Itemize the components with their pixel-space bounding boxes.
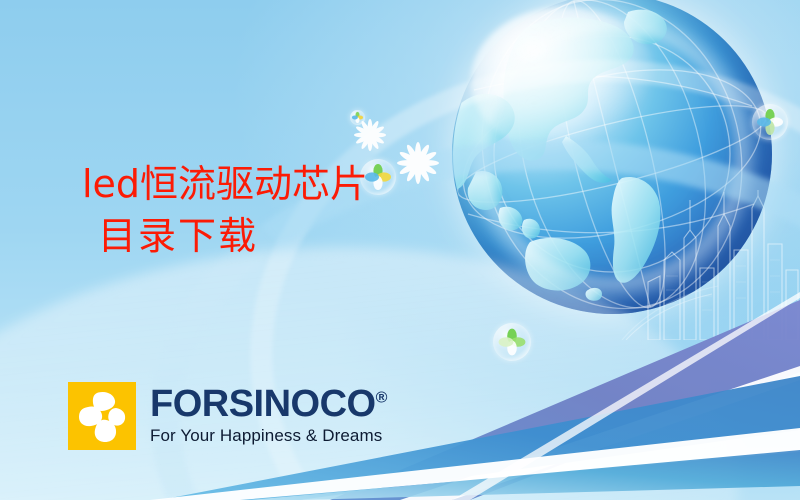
logo-wordmark-text: FORSINOCO (150, 383, 376, 425)
bubble-pinwheel-icon (350, 110, 365, 125)
logo-wordmark: FORSINOCO® (150, 386, 387, 423)
bubble-right (752, 104, 788, 140)
headline: led恒流驱动芯片 目录下载 (82, 158, 368, 263)
company-logo[interactable]: FORSINOCO® For Your Happiness & Dreams (68, 382, 387, 450)
headline-line-2: 目录下载 (98, 210, 368, 262)
logo-tagline: For Your Happiness & Dreams (150, 426, 387, 446)
bubble-pinwheel-icon (752, 104, 788, 140)
registered-mark: ® (376, 389, 388, 406)
headline-line-1: led恒流驱动芯片 (82, 158, 368, 210)
bubble-top (350, 110, 365, 125)
bubble-bottom (493, 323, 531, 361)
promo-banner: led恒流驱动芯片 目录下载 FORSINOCO® For Your Happi… (0, 0, 800, 500)
flower-large-icon (394, 139, 442, 187)
pinwheel-icon (68, 382, 136, 450)
bubble-pinwheel-icon (493, 323, 531, 361)
logo-text-block: FORSINOCO® For Your Happiness & Dreams (150, 386, 387, 446)
